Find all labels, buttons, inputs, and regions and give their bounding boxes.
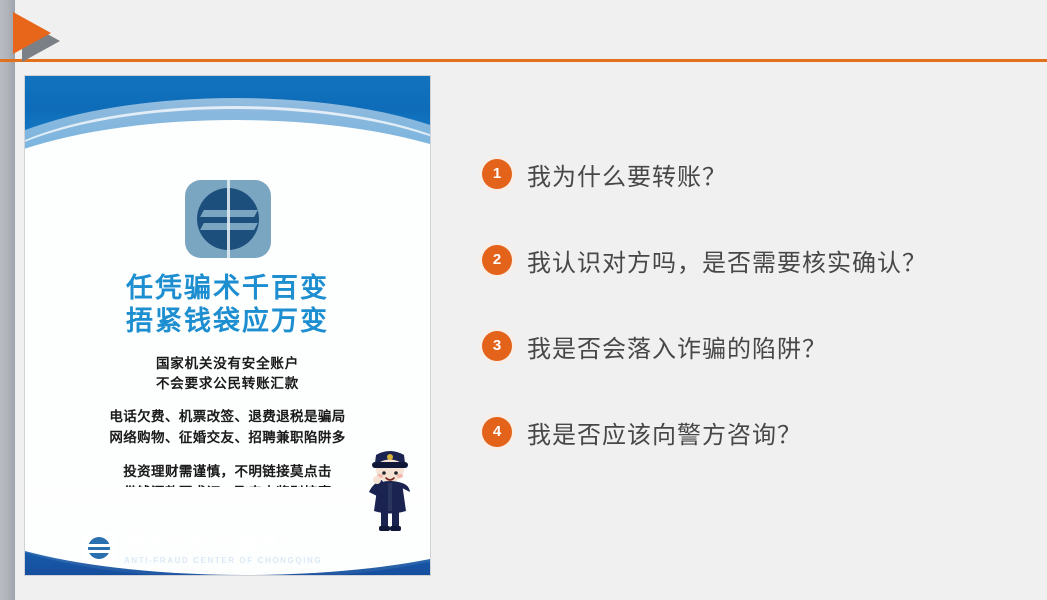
footer-text-group: 重庆市反诈骗中心 ANTI-FRAUD CENTER OF CHONGQING [124,532,322,565]
footer-logo-circle [88,537,110,559]
logo-divider-line [227,180,230,258]
header-divider-rule [0,59,1047,62]
anti-fraud-poster: 任凭骗术千百变 捂紧钱袋应万变 国家机关没有安全账户 不会要求公民转账汇款 电话… [25,76,430,575]
footer-logo-icon [83,532,115,564]
question-text: 我认识对方吗，是否需要核实确认？ [527,243,927,278]
question-number-badge: 3 [482,331,512,361]
slide: 转账汇款前“四必问” 任凭骗术千百变 捂紧钱袋应万变 国家机关没有安全账户 不会… [0,0,1047,600]
question-number-badge: 4 [482,417,512,447]
poster-headline-line-2: 捂紧钱袋应万变 [25,305,430,338]
left-edge-strip [0,0,15,600]
question-list: 1 我为什么要转账？ 2 我认识对方吗，是否需要核实确认？ 3 我是否会落入诈骗… [482,152,1022,454]
question-item-4: 4 我是否应该向警方咨询？ [482,410,1022,454]
poster-footer-brand: 重庆市反诈骗中心 ANTI-FRAUD CENTER OF CHONGQING [83,532,322,565]
poster-tip-block-1-line-1: 电话欠费、机票改签、退费退税是骗局 [25,407,430,428]
footer-org-name-en: ANTI-FRAUD CENTER OF CHONGQING [124,556,322,565]
question-text: 我是否应该向警方咨询？ [527,415,802,450]
question-number-badge: 2 [482,245,512,275]
poster-subtitle-line-1: 国家机关没有安全账户 [25,354,430,374]
question-text: 我是否会落入诈骗的陷阱？ [527,329,827,364]
footer-org-name-cn: 重庆市反诈骗中心 [124,532,322,554]
arrow-right-triangle-icon [13,12,51,54]
poster-subtitle-line-2: 不会要求公民转账汇款 [25,374,430,394]
slide-header [0,0,1047,62]
question-item-3: 3 我是否会落入诈骗的陷阱？ [482,324,1022,368]
poster-top-wave-banner [25,76,430,168]
question-item-2: 2 我认识对方吗，是否需要核实确认？ [482,238,1022,282]
question-item-1: 1 我为什么要转账？ [482,152,1022,196]
saluting-police-officer-mascot-icon [364,449,416,535]
question-number-badge: 1 [482,159,512,189]
poster-headline-line-1: 任凭骗术千百变 [25,272,430,305]
poster-tip-block-1-line-2: 网络购物、征婚交友、招聘兼职陷阱多 [25,428,430,449]
anti-fraud-logo-icon [185,180,271,258]
title-arrow-bullet [13,8,73,62]
question-text: 我为什么要转账？ [527,157,727,192]
